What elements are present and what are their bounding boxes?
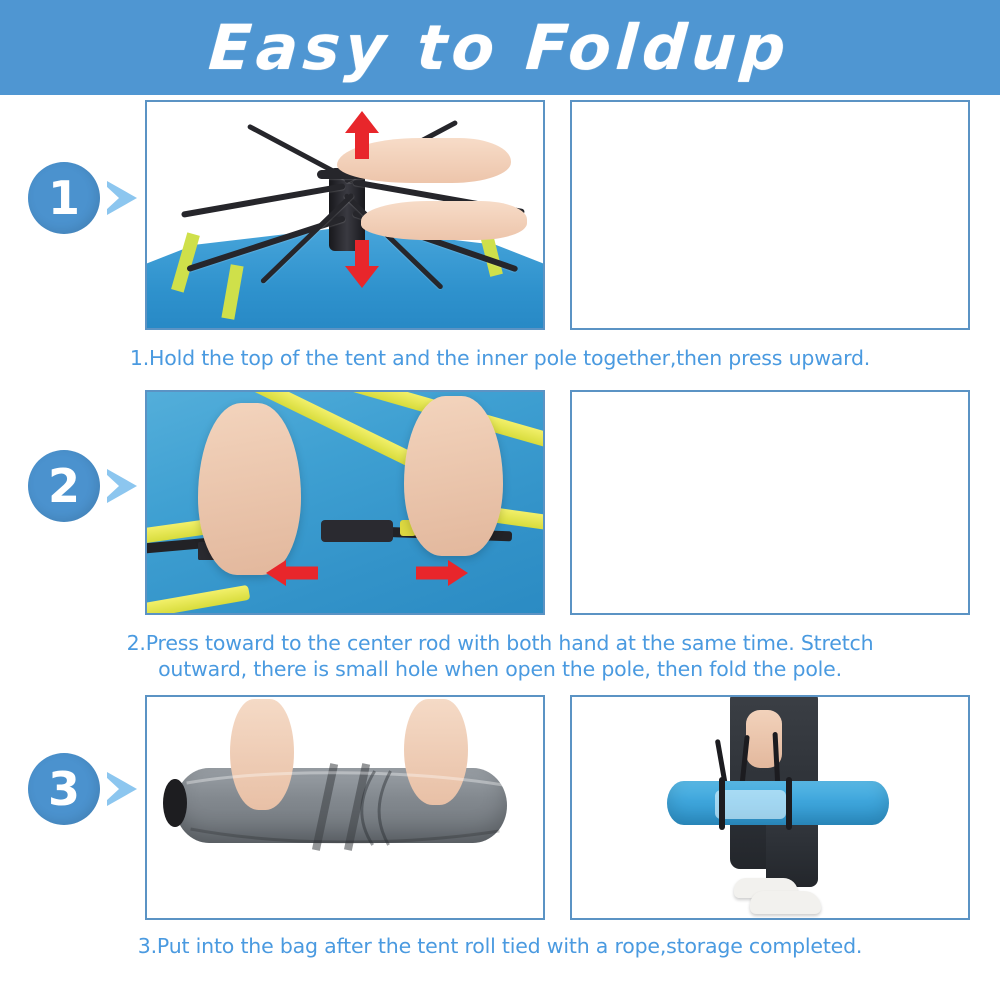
photo-canvas <box>147 102 543 328</box>
step-3-caption: 3.Put into the bag after the tent roll t… <box>0 933 1000 959</box>
page-title: Easy to Foldup <box>207 17 793 79</box>
foldup-instruction-infographic: Easy to Foldup 1 <box>0 0 1000 1000</box>
step-1-caption: 1.Hold the top of the tent and the inner… <box>0 345 1000 371</box>
hand-right <box>404 396 503 555</box>
hand-lower <box>361 201 527 239</box>
photo-tent-folded-gray-base <box>570 390 970 615</box>
arrow-down-icon <box>345 238 379 288</box>
header-banner: Easy to Foldup <box>0 0 1000 95</box>
hand-left <box>198 403 301 575</box>
caption-line: 1.Hold the top of the tent and the inner… <box>130 346 870 370</box>
step-2-caption: 2.Press toward to the center rod with bo… <box>0 630 1000 682</box>
roll-detail-lines <box>147 697 543 918</box>
step-row-1: 1 <box>0 100 1000 385</box>
step-number-badge: 2 <box>28 450 100 522</box>
arrow-up-icon <box>345 111 379 161</box>
photo-canvas <box>572 392 968 613</box>
step-row-3: 3 <box>0 695 1000 960</box>
photo-person-carrying-bag <box>570 695 970 920</box>
step-number-badge: 3 <box>28 753 100 825</box>
step-row-2: 2 <box>0 390 1000 690</box>
bag-strap-front <box>719 777 725 830</box>
arrow-right-icon <box>107 772 137 806</box>
photo-canvas <box>147 697 543 918</box>
caption-line: 2.Press toward to the center rod with bo… <box>127 631 874 655</box>
photo-tent-frame-press-upward <box>145 100 545 330</box>
caption-line: 3.Put into the bag after the tent roll t… <box>138 934 862 958</box>
pole-connector <box>321 520 392 542</box>
photo-hands-press-center-rod <box>145 390 545 615</box>
step-1-marker: 1 <box>28 162 137 234</box>
bag-window <box>715 790 786 819</box>
photo-rolling-tent-bundle <box>145 695 545 920</box>
arrow-right-icon <box>107 469 137 503</box>
step-2-marker: 2 <box>28 450 137 522</box>
arrow-right-icon <box>107 181 137 215</box>
step-number-badge: 1 <box>28 162 100 234</box>
photo-canvas <box>147 392 543 613</box>
photo-tent-collapsed-blue <box>570 100 970 330</box>
photo-canvas <box>572 697 968 918</box>
person-shoe-front <box>750 891 821 913</box>
photo-canvas <box>572 102 968 328</box>
bag-strap-front <box>786 777 792 830</box>
step-3-marker: 3 <box>28 753 137 825</box>
arrow-left-icon <box>266 560 318 586</box>
arrow-right-red-icon <box>416 560 468 586</box>
caption-line-2: outward, there is small hole when open t… <box>0 656 1000 682</box>
